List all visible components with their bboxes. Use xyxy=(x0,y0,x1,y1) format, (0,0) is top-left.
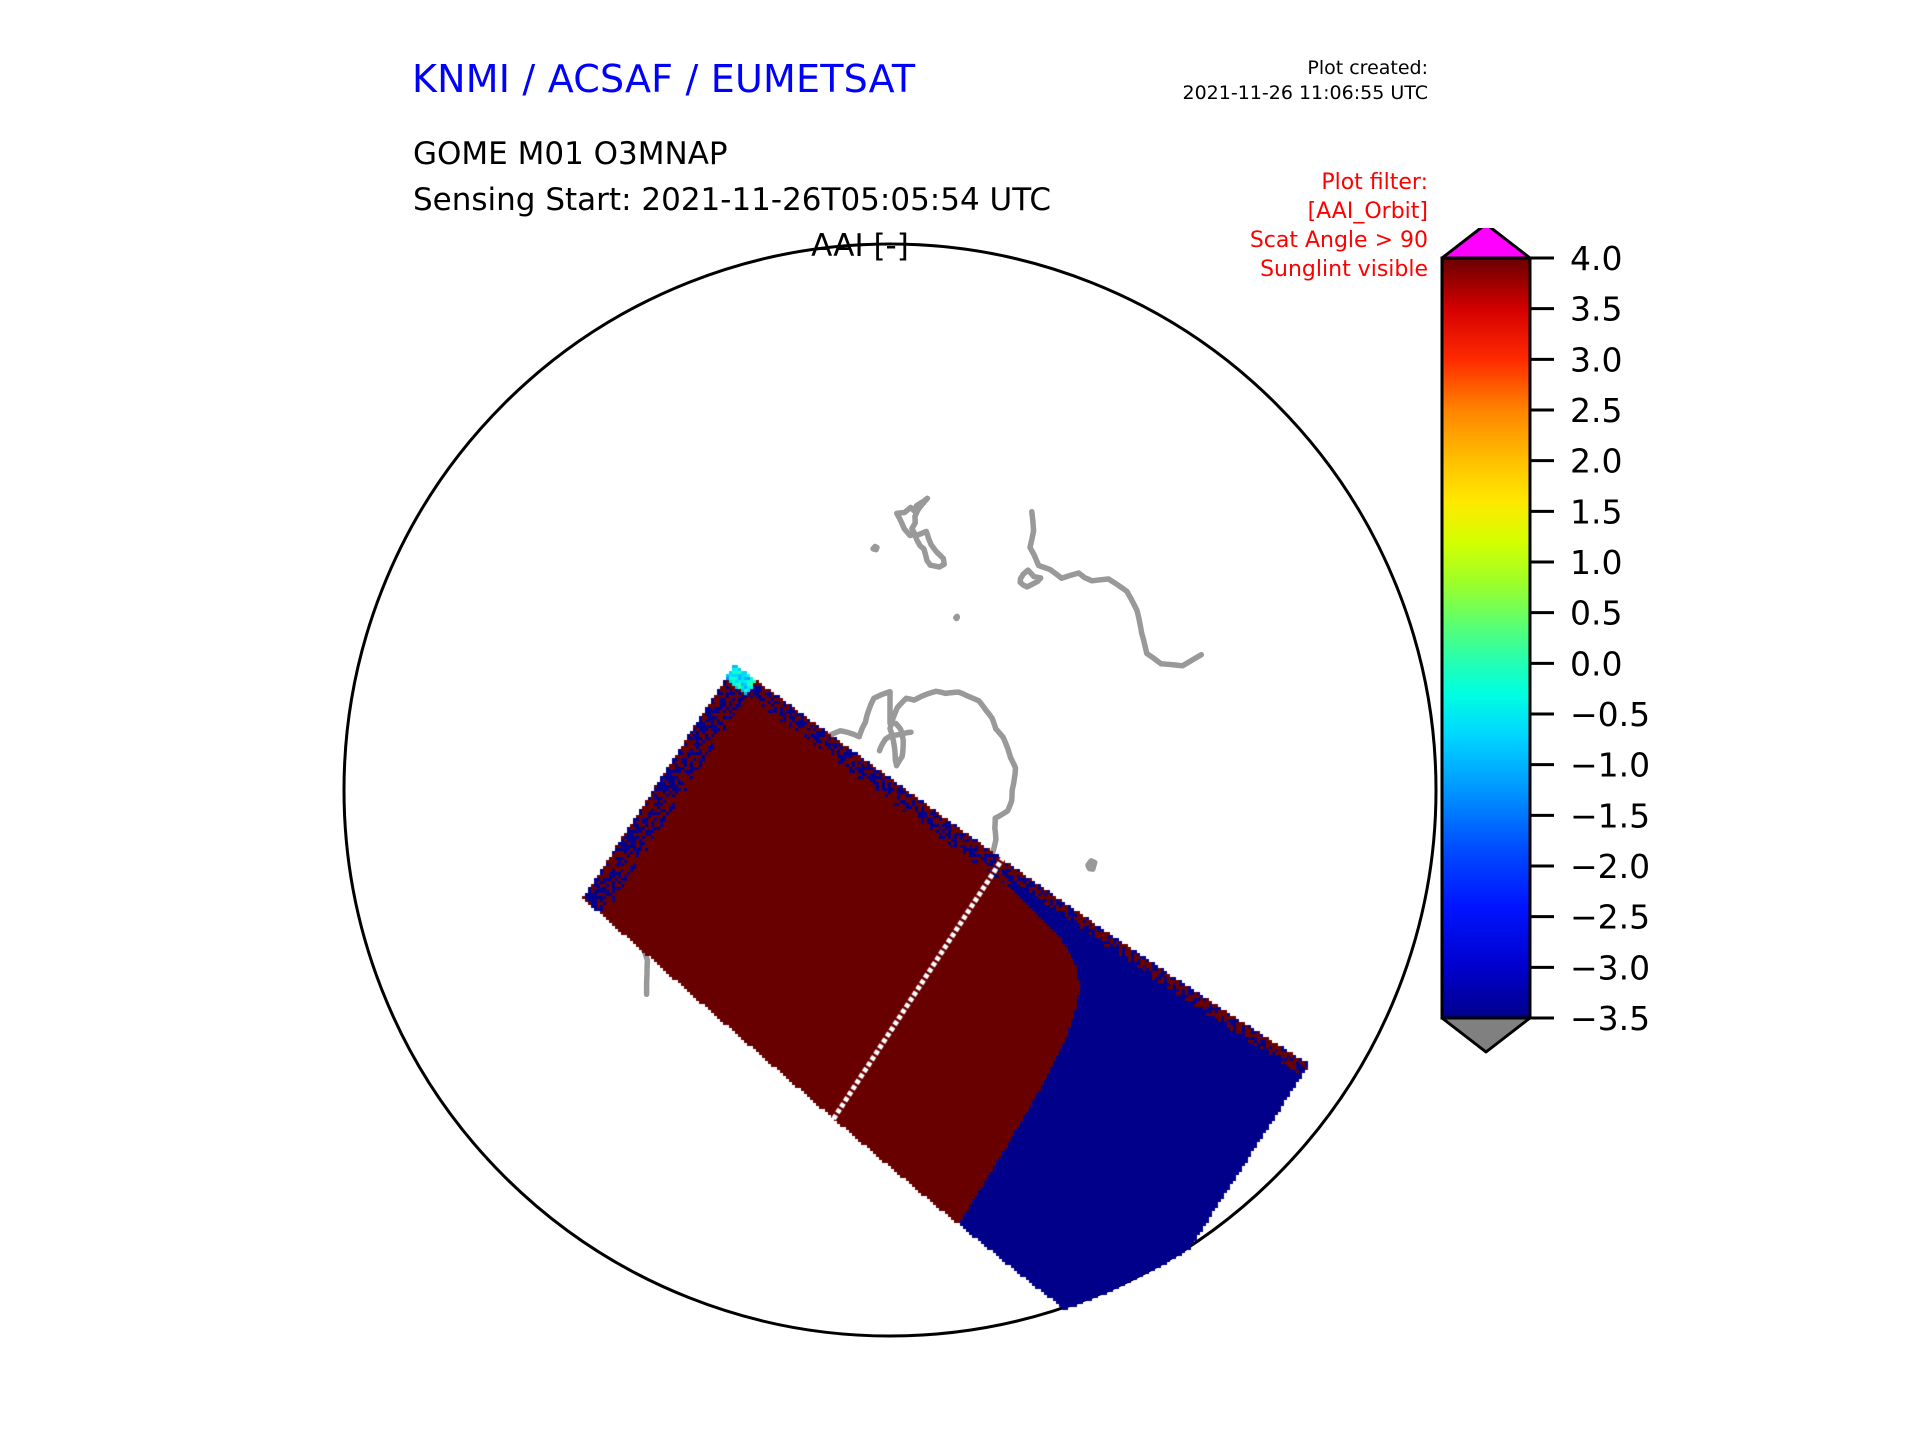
colorbar-tick-label: 4.0 xyxy=(1570,239,1622,278)
coastline-layer xyxy=(607,498,1202,1102)
coastline-path xyxy=(607,844,723,994)
sensing-start-label: Sensing Start: 2021-11-26T05:05:54 UTC xyxy=(413,182,1051,218)
product-title: GOME M01 O3MNAP xyxy=(413,136,728,172)
colorbar-panel: 4.03.53.02.52.01.51.00.50.0−0.5−1.0−1.5−… xyxy=(1430,228,1790,1328)
colorbar-under-arrow xyxy=(1442,1018,1530,1052)
coastline-path xyxy=(983,1069,984,1103)
colorbar-tick-label: −0.5 xyxy=(1570,695,1650,734)
colorbar-tick-label: 2.5 xyxy=(1570,391,1622,430)
colorbar-tick-labels: 4.03.53.02.52.01.51.00.50.0−0.5−1.0−1.5−… xyxy=(1570,239,1650,1038)
colorbar-over-arrow xyxy=(1442,228,1530,258)
colorbar-tick-label: 1.5 xyxy=(1570,492,1622,531)
colorbar-tick-label: 0.5 xyxy=(1570,594,1622,633)
globe-boundary-circle xyxy=(344,244,1436,1336)
colorbar-tick-label: 2.0 xyxy=(1570,442,1622,481)
coastline-path xyxy=(1030,512,1201,666)
coastline-path xyxy=(956,616,958,618)
colorbar-body xyxy=(1442,258,1530,1018)
colorbar-tick-label: −2.5 xyxy=(1570,898,1650,937)
colorbar-tick-label: −1.5 xyxy=(1570,796,1650,835)
colorbar-tick-label: 0.0 xyxy=(1570,644,1622,683)
coastline-path xyxy=(915,531,944,567)
coastline-path xyxy=(983,1057,1075,1075)
colorbar-tick-label: −3.0 xyxy=(1570,948,1650,987)
plot-created-block: Plot created: 2021-11-26 11:06:55 UTC xyxy=(1183,56,1429,105)
coastline-path xyxy=(766,860,768,873)
organisation-title: KNMI / ACSAF / EUMETSAT xyxy=(412,57,915,101)
colorbar-tick-label: 3.5 xyxy=(1570,290,1622,329)
coastline-path xyxy=(873,547,877,550)
plot-page: KNMI / ACSAF / EUMETSAT GOME M01 O3MNAP … xyxy=(0,0,1920,1440)
colorbar-tick-label: −1.0 xyxy=(1570,746,1650,785)
colorbar-tick-label: 1.0 xyxy=(1570,543,1622,582)
plot-filter-name: [AAI_Orbit] xyxy=(1250,197,1428,226)
map-panel xyxy=(330,230,1450,1350)
plot-filter-label: Plot filter: xyxy=(1250,168,1428,197)
colorbar-ticks xyxy=(1530,258,1554,1018)
colorbar-tick-label: −2.0 xyxy=(1570,847,1650,886)
colorbar: 4.03.53.02.52.01.51.00.50.0−0.5−1.0−1.5−… xyxy=(1430,228,1790,1328)
coastline-path xyxy=(774,937,782,940)
colorbar-tick-label: −3.5 xyxy=(1570,999,1650,1038)
plot-created-label: Plot created: xyxy=(1183,56,1429,81)
globe-map xyxy=(330,230,1450,1350)
coastline-path xyxy=(1088,861,1095,869)
coastline-path xyxy=(766,691,1016,896)
coastline-path xyxy=(712,886,721,897)
plot-created-timestamp: 2021-11-26 11:06:55 UTC xyxy=(1183,81,1429,106)
coastline-path xyxy=(1020,570,1040,587)
colorbar-tick-label: 3.0 xyxy=(1570,340,1622,379)
